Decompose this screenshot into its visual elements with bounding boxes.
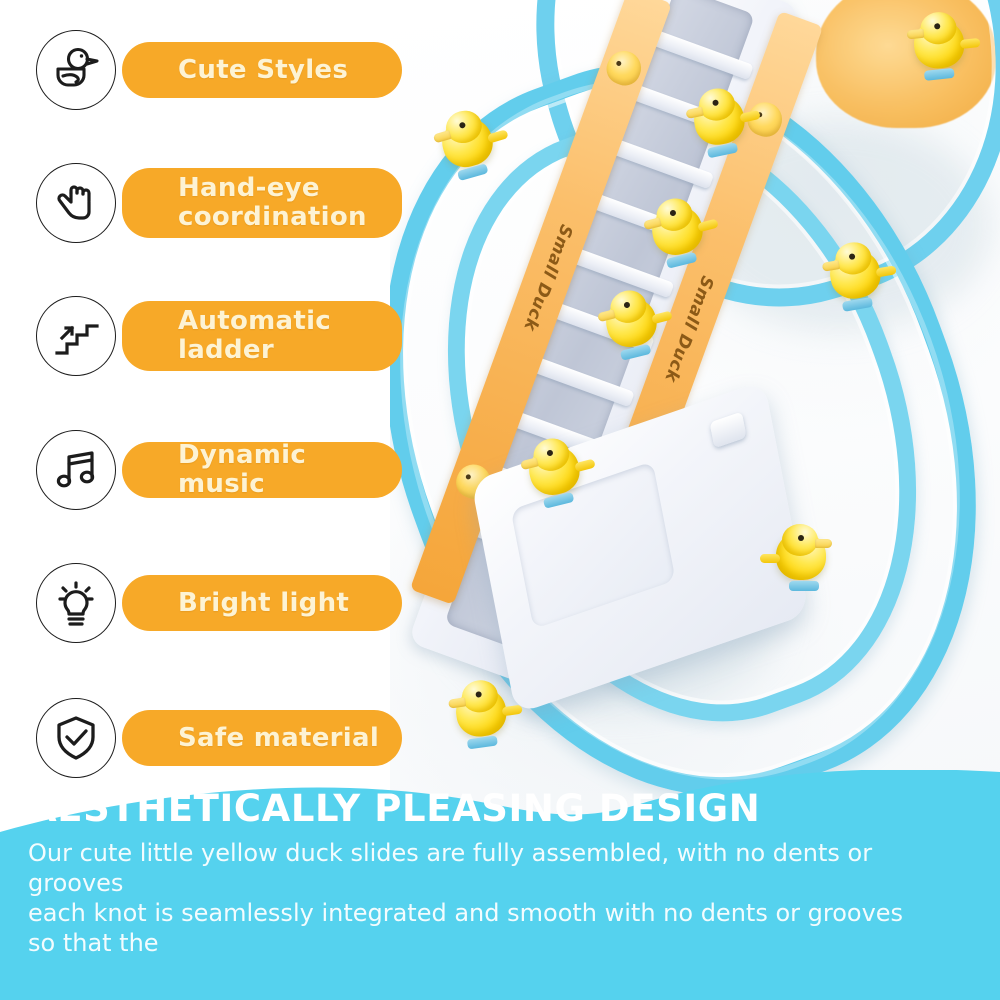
feature-item-cute-styles[interactable]: Cute Styles [36,30,402,110]
infographic-page: Small Duck Small Duck [0,0,1000,1000]
banner-title: AESTHETICALLY PLEASING DESIGN [28,788,972,830]
lightbulb-icon [36,563,116,643]
feature-item-bright-light[interactable]: Bright light [36,563,402,643]
feature-pill: Cute Styles [122,42,402,98]
feature-item-hand-eye-coordination[interactable]: Hand-eye coordination [36,163,402,243]
duck-figure [684,82,758,156]
hand-icon [36,163,116,243]
feature-label: Cute Styles [178,56,348,85]
feature-label: Automatic ladder [178,307,331,365]
banner-text-block: AESTHETICALLY PLEASING DESIGN Our cute l… [28,788,972,958]
feature-pill: Safe material [122,710,402,766]
duck-figure [768,524,830,586]
feature-pill: Hand-eye coordination [122,168,402,238]
duck-figure [907,9,975,77]
stairs-icon [36,296,116,376]
bottom-banner: AESTHETICALLY PLEASING DESIGN Our cute l… [0,770,1000,1000]
duck-figure [448,676,518,746]
duck-figure [821,237,893,309]
feature-list: Cute Styles Hand-eye coordination [0,0,420,800]
feature-item-safe-material[interactable]: Safe material [36,698,402,778]
product-photo: Small Duck Small Duck [390,0,1000,830]
music-note-icon [36,430,116,510]
banner-body: Our cute little yellow duck slides are f… [28,838,972,958]
feature-label: Safe material [178,724,379,753]
feature-label: Dynamic music [178,441,388,499]
feature-label: Bright light [178,589,349,618]
feature-label: Hand-eye coordination [178,174,367,232]
shield-check-icon [36,698,116,778]
feature-pill: Dynamic music [122,442,402,498]
power-switch [710,411,747,448]
feature-item-dynamic-music[interactable]: Dynamic music [36,430,402,510]
feature-pill: Automatic ladder [122,301,402,371]
panel-duck-art [602,46,646,90]
feature-pill: Bright light [122,575,402,631]
feature-item-automatic-ladder[interactable]: Automatic ladder [36,296,402,376]
duck-icon [36,30,116,110]
